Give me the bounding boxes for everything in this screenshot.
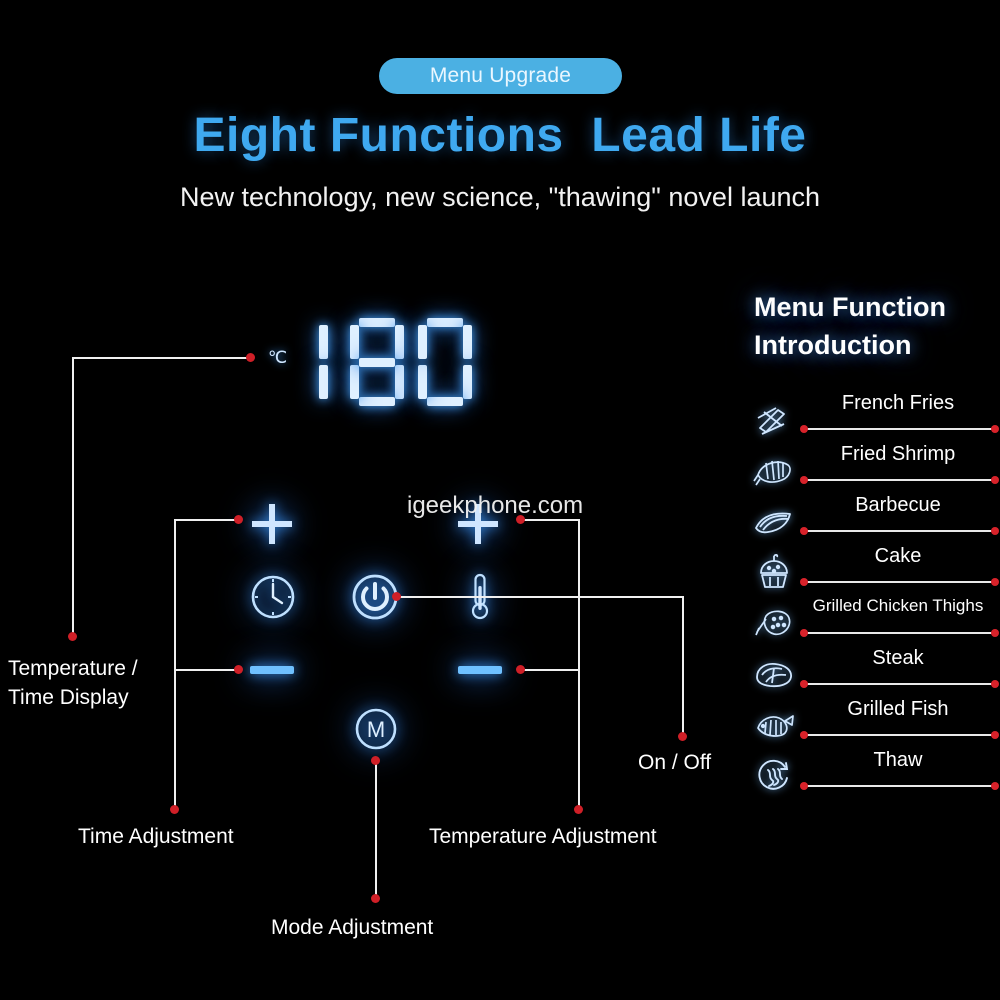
menu-item-fried-shrimp[interactable]: Fried Shrimp <box>752 443 1000 494</box>
menu-item-dot-left <box>800 425 808 433</box>
menu-item-rule <box>804 581 995 583</box>
menu-item-dot-right <box>991 680 999 688</box>
seg-digit-1 <box>310 318 336 406</box>
menu-function-title-line2: Introduction <box>754 326 1000 364</box>
menu-item-dot-right <box>991 629 999 637</box>
callout-label-time: Time Adjustment <box>78 822 234 851</box>
temperature-unit: ℃ <box>268 348 287 368</box>
menu-item-french-fries[interactable]: French Fries <box>752 392 1000 443</box>
menu-item-rule <box>804 683 995 685</box>
callout-line-onoff-v <box>682 596 684 736</box>
bacon-icon <box>752 500 796 542</box>
fish-icon <box>752 704 796 746</box>
mode-button[interactable]: M <box>352 705 400 753</box>
callout-dot-mode-label <box>371 894 380 903</box>
menu-item-label: French Fries <box>798 392 998 415</box>
callout-dot-mode-start <box>371 756 380 765</box>
menu-item-dot-left <box>800 578 808 586</box>
menu-item-rule <box>804 428 995 430</box>
menu-item-dot-right <box>991 731 999 739</box>
menu-item-rule <box>804 785 995 787</box>
callout-dot-display-end <box>246 353 255 362</box>
menu-function-title-line1: Menu Function <box>754 288 1000 326</box>
menu-item-steak[interactable]: Steak <box>752 647 1000 698</box>
time-plus-button[interactable] <box>249 501 295 547</box>
menu-item-grilled-fish[interactable]: Grilled Fish <box>752 698 1000 749</box>
callout-line-time-v <box>174 519 176 810</box>
thaw-icon <box>752 755 796 797</box>
page-subtitle: New technology, new science, "thawing" n… <box>0 182 1000 213</box>
callout-line-time-minus <box>174 669 240 671</box>
menu-item-label: Steak <box>798 647 998 670</box>
cupcake-icon <box>752 551 796 593</box>
chicken-thigh-icon <box>752 602 796 644</box>
menu-item-label: Fried Shrimp <box>798 443 998 466</box>
menu-item-dot-right <box>991 782 999 790</box>
menu-item-dot-right <box>991 578 999 586</box>
menu-item-dot-left <box>800 476 808 484</box>
menu-item-label: Cake <box>798 545 998 568</box>
watermark: igeekphone.com <box>407 492 583 520</box>
callout-dot-temp-plus <box>516 515 525 524</box>
menu-function-list: French Fries Fried Shrimp <box>752 392 1000 800</box>
callout-dot-onoff-start <box>392 592 401 601</box>
menu-item-rule <box>804 734 995 736</box>
timer-clock-icon[interactable] <box>249 573 297 621</box>
menu-item-dot-left <box>800 782 808 790</box>
callout-line-display-v <box>72 357 74 637</box>
menu-item-label: Barbecue <box>798 494 998 517</box>
menu-item-dot-left <box>800 731 808 739</box>
callout-line-time-plus <box>174 519 240 521</box>
menu-item-thaw[interactable]: Thaw <box>752 749 1000 800</box>
page-title: Eight Functions Lead Life <box>0 108 1000 163</box>
time-minus-button[interactable] <box>248 662 296 678</box>
temperature-minus-button[interactable] <box>456 662 504 678</box>
callout-label-mode: Mode Adjustment <box>271 913 433 942</box>
menu-item-dot-right <box>991 425 999 433</box>
callout-label-temp: Temperature Adjustment <box>429 822 657 851</box>
callout-dot-temp-minus <box>516 665 525 674</box>
menu-item-cake[interactable]: Cake <box>752 545 1000 596</box>
callout-line-onoff-h <box>398 596 684 598</box>
menu-item-dot-left <box>800 527 808 535</box>
callout-label-display: Temperature / Time Display <box>8 654 138 712</box>
callout-dot-display-label <box>68 632 77 641</box>
menu-upgrade-badge: Menu Upgrade <box>379 58 622 94</box>
menu-item-grilled-chicken-thighs[interactable]: Grilled Chicken Thighs <box>752 596 1000 647</box>
menu-item-label: Grilled Chicken Thighs <box>798 596 998 616</box>
menu-item-dot-right <box>991 527 999 535</box>
menu-item-dot-right <box>991 476 999 484</box>
menu-item-label: Thaw <box>798 749 998 772</box>
poster-root: Menu Upgrade Eight Functions Lead Life N… <box>0 0 1000 1000</box>
svg-text:M: M <box>367 717 385 742</box>
callout-label-onoff: On / Off <box>638 748 711 777</box>
callout-dot-temp-label <box>574 805 583 814</box>
callout-line-mode-v <box>375 760 377 898</box>
shrimp-icon <box>752 449 796 491</box>
menu-item-rule <box>804 632 995 634</box>
callout-line-temp-minus <box>524 669 578 671</box>
menu-item-rule <box>804 530 995 532</box>
menu-item-label: Grilled Fish <box>798 698 998 721</box>
callout-dot-time-label <box>170 805 179 814</box>
menu-item-barbecue[interactable]: Barbecue <box>752 494 1000 545</box>
menu-item-rule <box>804 479 995 481</box>
callout-dot-time-minus <box>234 665 243 674</box>
temperature-display <box>310 318 472 406</box>
seg-digit-0 <box>418 318 472 406</box>
callout-line-display-h <box>72 357 254 359</box>
callout-dot-time-plus <box>234 515 243 524</box>
callout-dot-onoff-label <box>678 732 687 741</box>
menu-function-title: Menu Function Introduction <box>754 288 1000 364</box>
callout-line-temp-v <box>578 519 580 810</box>
menu-item-dot-left <box>800 680 808 688</box>
menu-item-dot-left <box>800 629 808 637</box>
seg-digit-8 <box>350 318 404 406</box>
steak-icon <box>752 653 796 695</box>
callout-line-temp-plus <box>524 519 578 521</box>
french-fries-icon <box>752 398 796 440</box>
